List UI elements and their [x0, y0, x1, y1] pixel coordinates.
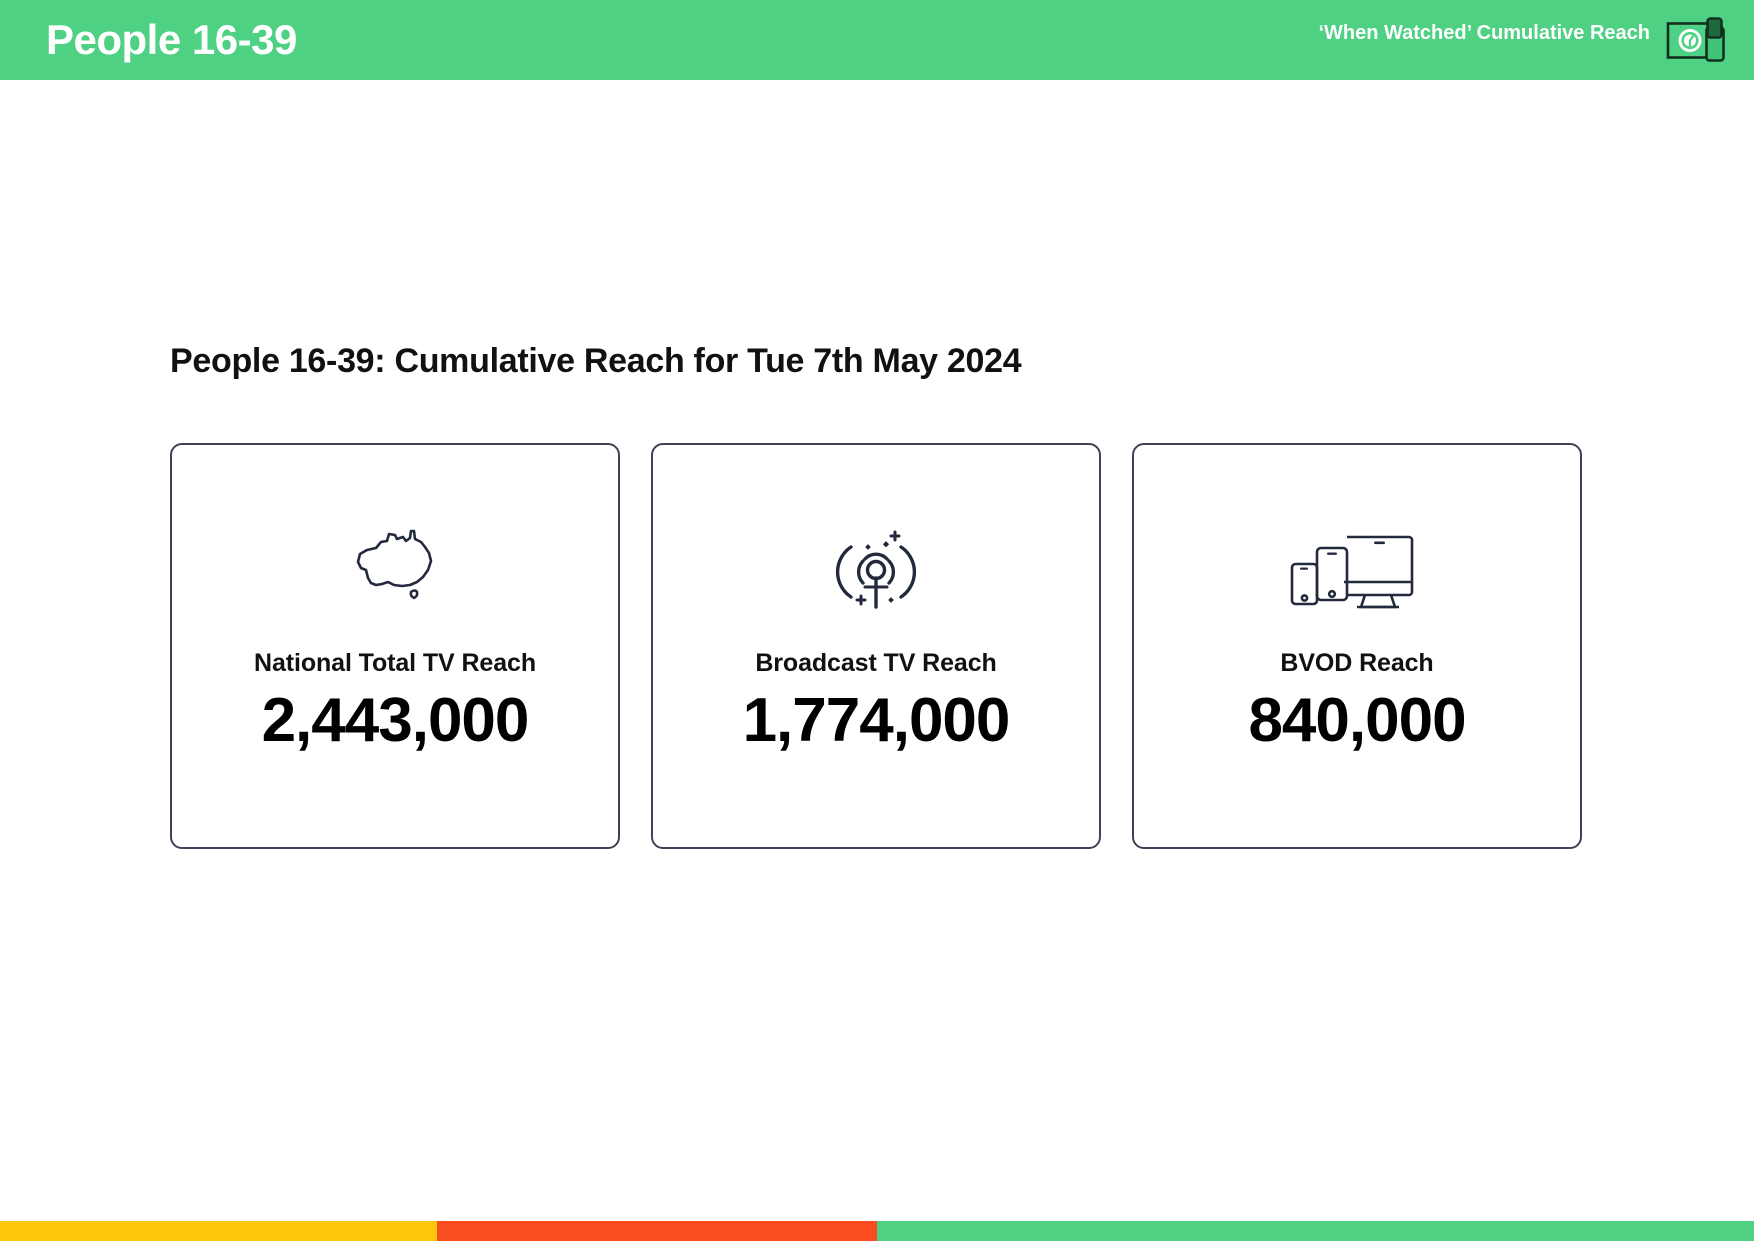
devices-icon: [1282, 521, 1432, 613]
metric-card-label: BVOD Reach: [1280, 649, 1433, 678]
metric-card-label: National Total TV Reach: [254, 649, 536, 678]
stripe-segment-yellow: [0, 1221, 437, 1241]
main-content: People 16-39: Cumulative Reach for Tue 7…: [0, 80, 1754, 1221]
metric-card-value: 2,443,000: [262, 688, 529, 753]
metric-card-value: 840,000: [1248, 688, 1465, 753]
oztam-tv-clock-logo: [1666, 16, 1732, 66]
header-right-group: ‘When Watched’ Cumulative Reach: [1318, 0, 1732, 80]
chart-title: People 16-39: Cumulative Reach for Tue 7…: [170, 342, 1021, 381]
metric-card-broadcast-tv: Broadcast TV Reach 1,774,000: [651, 443, 1101, 849]
stripe-segment-orange: [437, 1221, 877, 1241]
page-title: People 16-39: [46, 16, 297, 64]
metric-card-value: 1,774,000: [743, 688, 1010, 753]
stripe-segment-green: [877, 1221, 1754, 1241]
footer-color-stripe: [0, 1221, 1754, 1241]
australia-map-icon: [320, 521, 470, 613]
metric-card-group: National Total TV Reach 2,443,000: [170, 443, 1583, 849]
metric-card-national-total-tv: National Total TV Reach 2,443,000: [170, 443, 620, 849]
header-subtitle: ‘When Watched’ Cumulative Reach: [1318, 16, 1650, 50]
metric-card-bvod: BVOD Reach 840,000: [1132, 443, 1582, 849]
page-header: People 16-39 ‘When Watched’ Cumulative R…: [0, 0, 1754, 80]
broadcast-signal-icon: [801, 521, 951, 613]
metric-card-label: Broadcast TV Reach: [755, 649, 996, 678]
